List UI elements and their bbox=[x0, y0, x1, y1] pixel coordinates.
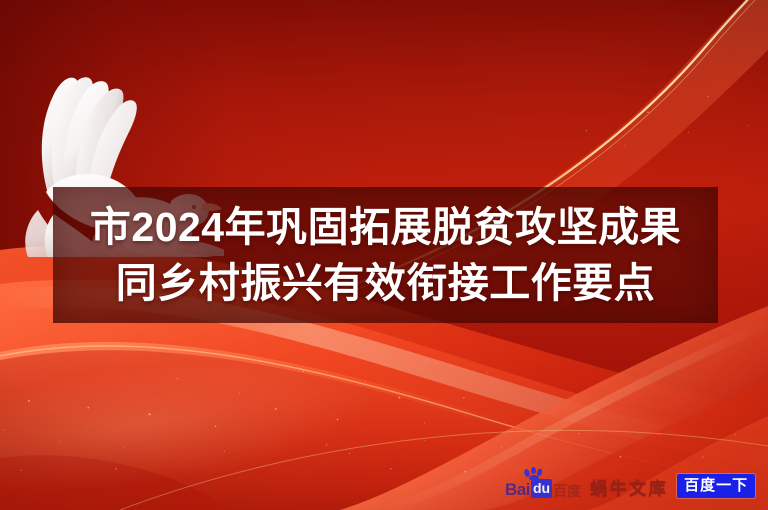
baidu-search-button[interactable]: 百度一下 bbox=[677, 474, 755, 498]
baidu-logo[interactable]: Bai du 百度 bbox=[505, 474, 581, 498]
baidu-logo-chinese: 百度 bbox=[553, 484, 581, 498]
baidu-logo-bai: Bai bbox=[505, 481, 530, 498]
title-line-2: 同乡村振兴有效衔接工作要点 bbox=[116, 256, 656, 310]
baidu-paw-icon bbox=[523, 467, 545, 480]
title-line-1: 市2024年巩固拓展脱贫攻坚成果 bbox=[90, 200, 681, 254]
baidu-logo-du: du bbox=[531, 479, 552, 498]
page-title: 市2024年巩固拓展脱贫攻坚成果 同乡村振兴有效衔接工作要点 bbox=[53, 187, 718, 323]
poster-canvas: 市2024年巩固拓展脱贫攻坚成果 同乡村振兴有效衔接工作要点 Bai du 百度… bbox=[0, 0, 768, 510]
watermark-brand-text: 蜗牛文库 bbox=[590, 474, 668, 499]
watermark-bar: Bai du 百度 蜗牛文库 百度一下 bbox=[505, 470, 763, 502]
